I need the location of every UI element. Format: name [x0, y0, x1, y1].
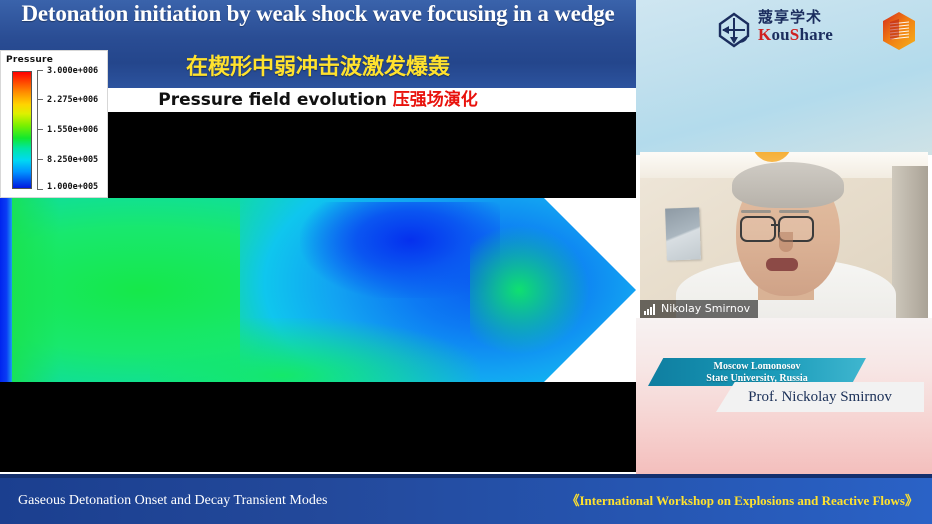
session-title: Gaseous Detonation Onset and Decay Trans…: [18, 478, 328, 524]
colorbar-tick-label: 8.250e+005: [47, 155, 98, 165]
slide-subtitle-en: Pressure field evolution: [158, 90, 392, 110]
pressure-field-canvas: [0, 198, 636, 382]
webcam-tile[interactable]: Nikolay Smirnov: [640, 152, 928, 318]
colorbar-tick-label: 1.550e+006: [47, 125, 98, 135]
wedge-mask-top: [544, 198, 636, 290]
shared-slide: Detonation initiation by weak shock wave…: [0, 0, 636, 478]
colorbar-tick-mark: [37, 129, 43, 130]
speaker-eyebrow-left: [741, 210, 771, 213]
hexagon-book-icon: [878, 10, 920, 52]
speaker-hair: [732, 162, 844, 208]
bottom-bar: Gaseous Detonation Onset and Decay Trans…: [0, 478, 932, 524]
video-panel: 蔻享学术 KouShare: [636, 0, 932, 478]
eyeglasses-left-lens: [740, 216, 776, 242]
window-curtain: [892, 166, 928, 318]
affiliation-plate: Moscow Lomonosov State University, Russi…: [648, 358, 866, 386]
brand-name-cn: 蔻享学术: [758, 8, 833, 26]
pressure-legend: Pressure 3.000e+006 2.275e+006 1.550e+00…: [0, 50, 108, 198]
colorbar-tick-mark: [37, 99, 43, 100]
video-letterbox-bottom: [0, 382, 636, 472]
branding-header: 蔻享学术 KouShare: [636, 0, 932, 155]
pressure-colorbar-axis: [37, 70, 43, 190]
brand-name-en: KouShare: [758, 26, 833, 44]
colorbar-tick-label: 3.000e+006: [47, 66, 98, 76]
colorbar-tick-label: 1.000e+005: [47, 182, 98, 192]
brand-s: S: [790, 25, 800, 44]
speaker-nose: [779, 232, 793, 252]
affiliation-line-1: Moscow Lomonosov: [648, 361, 866, 373]
speaker-eyebrow-right: [779, 210, 809, 213]
inlet-boundary-strip: [0, 198, 12, 382]
speaker-mouth: [766, 258, 798, 271]
pressure-legend-title: Pressure: [6, 55, 53, 65]
event-title: 《International Workshop on Explosions an…: [566, 478, 918, 524]
participant-name-overlay: Nikolay Smirnov: [640, 300, 758, 318]
slide-subtitle-cn: 压强场演化: [393, 90, 478, 110]
video-letterbox-top: [96, 112, 636, 198]
eyeglasses-bridge: [771, 224, 780, 226]
brand-logo-row: 蔻享学术 KouShare: [714, 8, 924, 52]
brand-k: K: [758, 25, 771, 44]
brand-hare: hare: [799, 25, 833, 44]
slide-title: Detonation initiation by weak shock wave…: [8, 1, 628, 26]
pressure-colorbar: [12, 71, 32, 189]
colorbar-tick-label: 2.275e+006: [47, 95, 98, 105]
participant-name: Nikolay Smirnov: [661, 300, 750, 318]
diamond-arrows-icon: [714, 10, 754, 50]
colorbar-tick-mark: [37, 159, 43, 160]
signal-bars-icon: [644, 304, 656, 315]
speaker-name-plate: Prof. Nickolay Smirnov: [716, 382, 924, 412]
brand-ou: ou: [771, 25, 789, 44]
pressure-field-plot: [0, 198, 636, 382]
brand-wordmark: 蔻享学术 KouShare: [758, 8, 833, 44]
wall-picture: [665, 207, 701, 260]
wedge-mask-bottom: [544, 290, 636, 382]
speaker-info-area: Moscow Lomonosov State University, Russi…: [636, 318, 932, 478]
screen-root: Detonation initiation by weak shock wave…: [0, 0, 932, 524]
